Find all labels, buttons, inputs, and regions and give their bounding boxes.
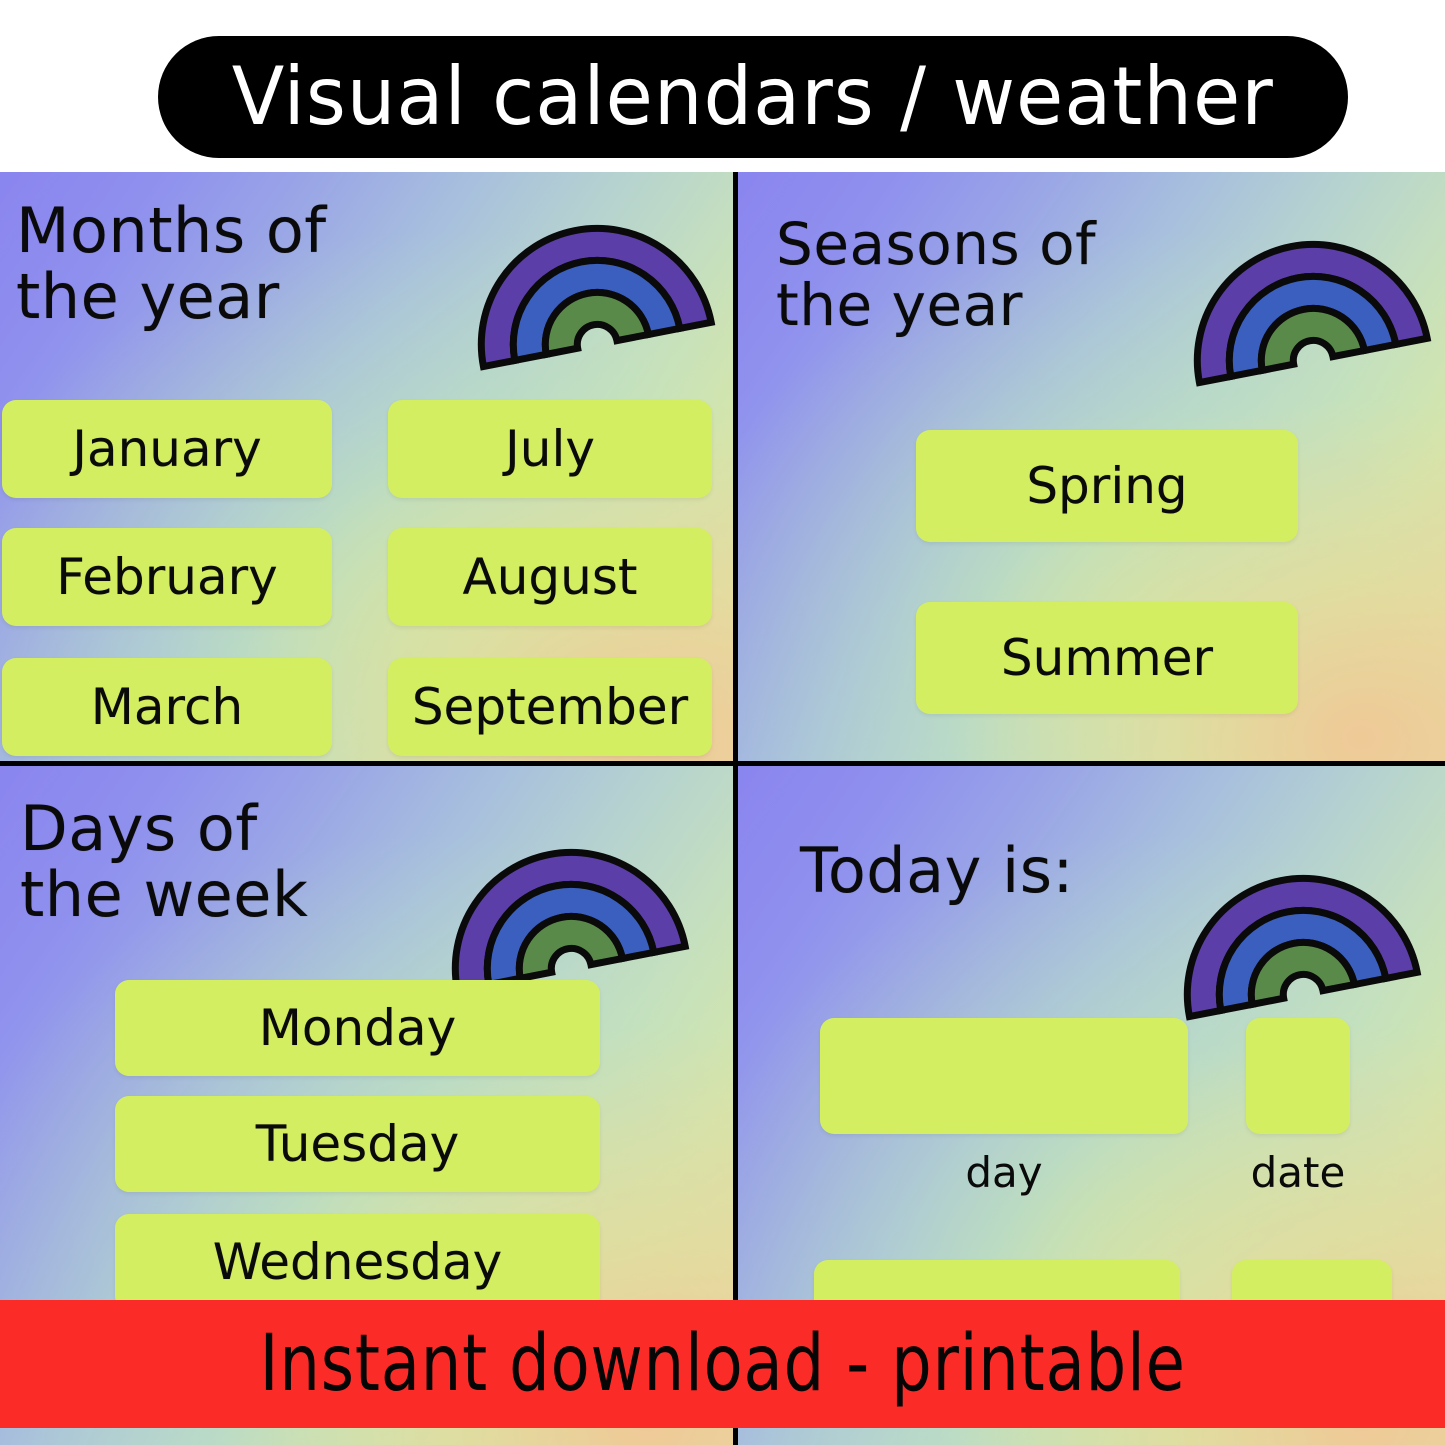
rainbow-icon	[1142, 795, 1433, 1026]
today-day-sublabel: day	[820, 1148, 1188, 1197]
day-chip-tuesday[interactable]: Tuesday	[115, 1096, 600, 1192]
panel-seasons-of-the-year: Seasons of the year Spring Summer	[738, 172, 1445, 761]
month-chip-august[interactable]: August	[388, 528, 712, 626]
panel-months-heading: Months of the year	[16, 198, 327, 329]
today-date-input-box[interactable]	[1246, 1018, 1350, 1134]
today-day-input-box[interactable]	[820, 1018, 1188, 1134]
month-chip-march[interactable]: March	[2, 658, 332, 756]
title-text: Visual calendars / weather	[232, 57, 1274, 137]
rainbow-icon	[410, 769, 701, 1000]
instant-download-text: Instant download - printable	[259, 1325, 1185, 1403]
month-chip-september[interactable]: September	[388, 658, 712, 756]
panel-days-heading: Days of the week	[20, 796, 308, 927]
season-chip-summer[interactable]: Summer	[916, 602, 1298, 714]
rainbow-icon	[436, 172, 727, 376]
title-banner: Visual calendars / weather	[158, 36, 1348, 158]
month-chip-february[interactable]: February	[2, 528, 332, 626]
day-chip-monday[interactable]: Monday	[115, 980, 600, 1076]
season-chip-spring[interactable]: Spring	[916, 430, 1298, 542]
rainbow-icon	[1152, 172, 1443, 392]
month-chip-july[interactable]: July	[388, 400, 712, 498]
panel-seasons-heading: Seasons of the year	[776, 214, 1096, 337]
panel-months-of-the-year: Months of the year January February Marc…	[0, 172, 733, 761]
panel-grid: Months of the year January February Marc…	[0, 172, 1445, 1445]
month-chip-january[interactable]: January	[2, 400, 332, 498]
instant-download-banner: Instant download - printable	[0, 1300, 1445, 1428]
product-listing-image: Months of the year January February Marc…	[0, 0, 1445, 1445]
today-date-sublabel: date	[1246, 1148, 1350, 1197]
day-chip-wednesday[interactable]: Wednesday	[115, 1214, 600, 1310]
panel-today-heading: Today is:	[800, 838, 1074, 904]
